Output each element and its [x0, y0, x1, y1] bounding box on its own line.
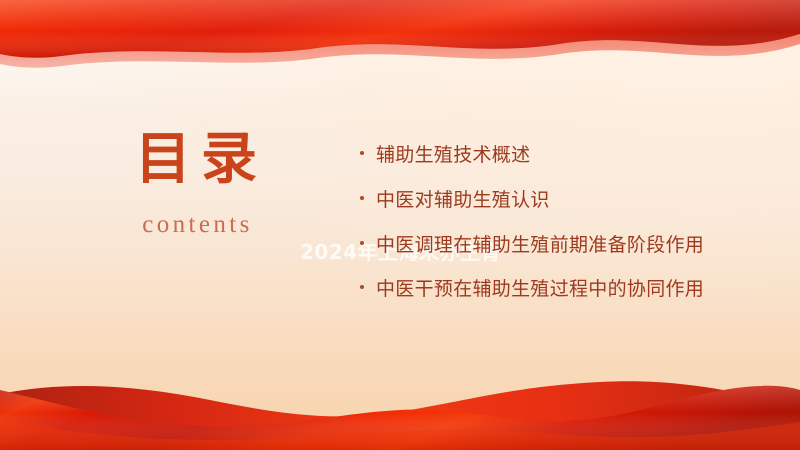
list-item[interactable]: 中医干预在辅助生殖过程中的协同作用 [357, 274, 727, 305]
list-item-label: 中医干预在辅助生殖过程中的协同作用 [376, 278, 704, 300]
list-item-label: 中医调理在辅助生殖前期准备阶段作用 [376, 234, 704, 256]
list-item[interactable]: 辅助生殖技术概述 [357, 140, 727, 171]
red-wave-bottom-decoration [0, 360, 800, 450]
bullet-dot-icon [360, 151, 364, 155]
toc-heading-block: 目录 contents [46, 128, 346, 239]
list-item-label: 中医对辅助生殖认识 [376, 189, 550, 211]
red-wave-bottom-svg [0, 360, 800, 450]
page-subtitle: contents [46, 211, 346, 239]
list-item-label: 辅助生殖技术概述 [376, 144, 530, 166]
bullet-dot-icon [360, 285, 364, 289]
red-ribbon-top-decoration [0, 0, 800, 120]
bullet-dot-icon [360, 196, 364, 200]
list-item[interactable]: 中医对辅助生殖认识 [357, 185, 727, 216]
red-ribbon-top-svg [0, 0, 800, 120]
slide-canvas: 目录 contents 2024年上海未亦生育 辅助生殖技术概述 中医对辅助生殖… [0, 0, 800, 450]
toc-list: 辅助生殖技术概述 中医对辅助生殖认识 中医调理在辅助生殖前期准备阶段作用 中医干… [357, 140, 727, 305]
bullet-dot-icon [360, 241, 364, 245]
list-item[interactable]: 中医调理在辅助生殖前期准备阶段作用 [357, 230, 727, 261]
page-title: 目录 [46, 128, 346, 191]
